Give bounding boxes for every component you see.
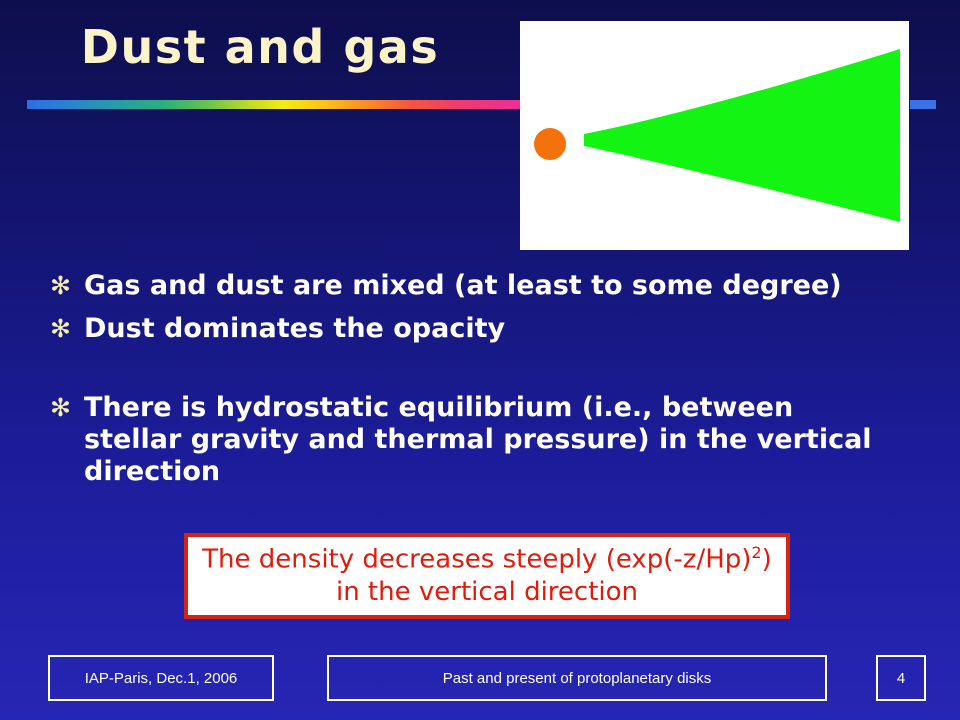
footer-date: IAP-Paris, Dec.1, 2006 — [48, 655, 274, 701]
rainbow-divider-left — [27, 100, 520, 109]
callout-superscript: 2 — [751, 543, 761, 562]
bullet-item-2-text: Dust dominates the opacity — [84, 313, 505, 345]
star-circle-icon — [534, 128, 566, 160]
asterisk-bullet-icon: ✻ — [50, 392, 84, 422]
bullet-item-2: ✻ Dust dominates the opacity — [50, 313, 930, 345]
asterisk-bullet-icon: ✻ — [50, 270, 84, 300]
bullet-item-1: ✻ Gas and dust are mixed (at least to so… — [50, 270, 930, 302]
page-title: Dust and gas — [0, 24, 520, 70]
bullet-item-1-text: Gas and dust are mixed (at least to some… — [84, 270, 842, 302]
footer-presentation-title: Past and present of protoplanetary disks — [327, 655, 827, 701]
callout-text: The density decreases steeply (exp(-z/Hp… — [194, 543, 780, 608]
protoplanetary-disk-diagram — [520, 21, 909, 250]
asterisk-bullet-icon: ✻ — [50, 313, 84, 343]
slide-canvas: Dust and gas ✻ Gas and dust are mixed (a… — [0, 0, 960, 720]
footer-page-number: 4 — [876, 655, 926, 701]
callout-line1-after: ) — [762, 545, 772, 575]
bullet-item-3: ✻ There is hydrostatic equilibrium (i.e.… — [50, 392, 880, 488]
bullet-item-3-text: There is hydrostatic equilibrium (i.e., … — [84, 392, 880, 488]
callout-line2: in the vertical direction — [336, 577, 638, 607]
disk-diagram-svg — [520, 21, 909, 250]
rainbow-divider-right — [910, 100, 936, 109]
callout-box: The density decreases steeply (exp(-z/Hp… — [184, 533, 790, 619]
callout-line1-before: The density decreases steeply (exp(-z/Hp… — [202, 545, 751, 575]
